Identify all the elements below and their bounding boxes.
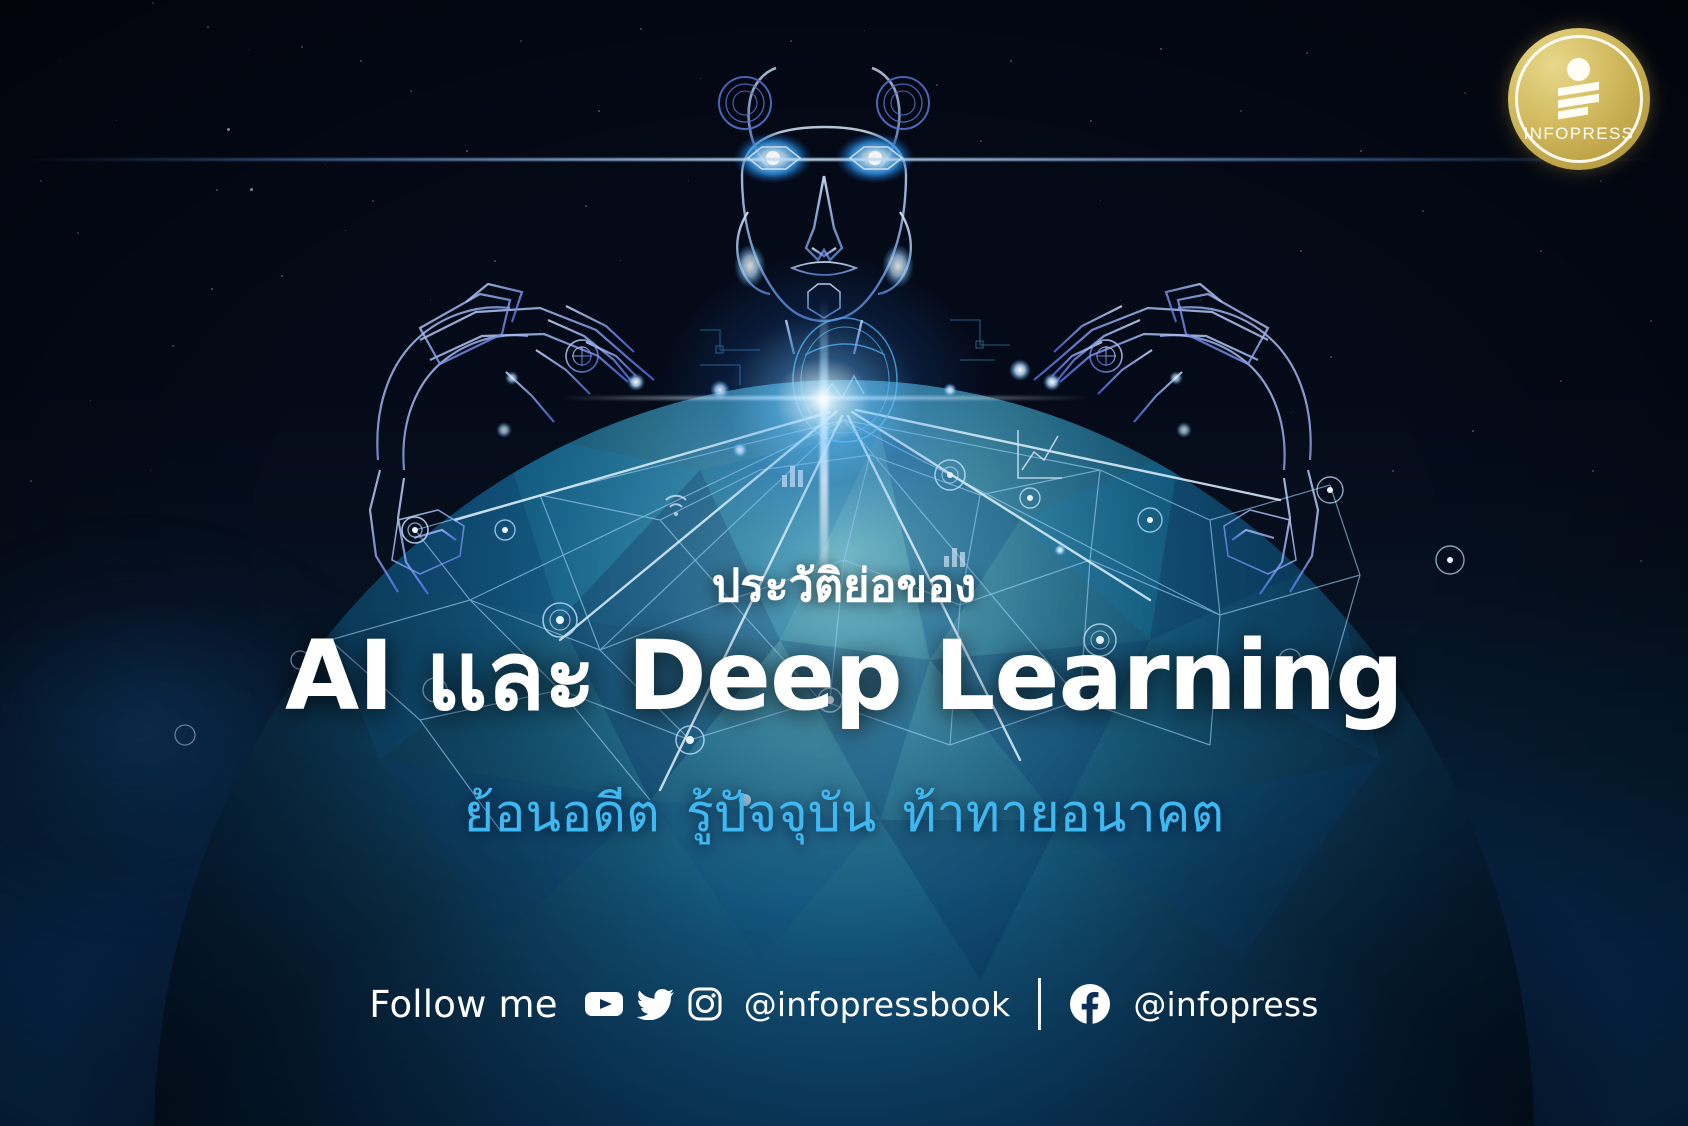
kicker-text: ประวัติย่อของ bbox=[0, 560, 1688, 612]
subtitle-text: ย้อนอดีตรู้ปัจจุบันท้าทายอนาคต bbox=[0, 783, 1688, 845]
subtitle-part-1: ย้อนอดีต bbox=[464, 784, 660, 844]
logo-wordmark: INFOPRESS bbox=[1524, 124, 1635, 144]
follow-me-label: Follow me bbox=[369, 983, 557, 1026]
infopress-logo-badge[interactable]: INFOPRESS bbox=[1508, 28, 1650, 170]
page-title: AI และ Deep Learning bbox=[0, 626, 1688, 727]
subtitle-part-2: รู้ปัจจุบัน bbox=[686, 784, 876, 844]
social-icon-group bbox=[584, 987, 722, 1021]
footer-divider bbox=[1038, 978, 1041, 1030]
subtitle-part-3: ท้าทายอนาคต bbox=[902, 784, 1224, 844]
facebook-group: @infopress bbox=[1069, 983, 1318, 1025]
poster-canvas: INFOPRESS ประวัติย่อของ AI และ Deep Lear… bbox=[0, 0, 1688, 1126]
central-light-burst bbox=[823, 400, 825, 402]
handle-infopress[interactable]: @infopress bbox=[1133, 985, 1318, 1024]
facebook-icon[interactable] bbox=[1069, 983, 1111, 1025]
instagram-icon[interactable] bbox=[688, 987, 722, 1021]
youtube-icon[interactable] bbox=[584, 989, 624, 1019]
handle-infopressbook[interactable]: @infopressbook bbox=[744, 985, 1011, 1024]
infopress-person-icon bbox=[1556, 58, 1602, 120]
eye-level-light-streak bbox=[20, 158, 1660, 161]
follow-bar: Follow me @infopressbo bbox=[0, 978, 1688, 1030]
title-block: ประวัติย่อของ AI และ Deep Learning ย้อนอ… bbox=[0, 560, 1688, 845]
twitter-icon[interactable] bbox=[637, 988, 675, 1020]
